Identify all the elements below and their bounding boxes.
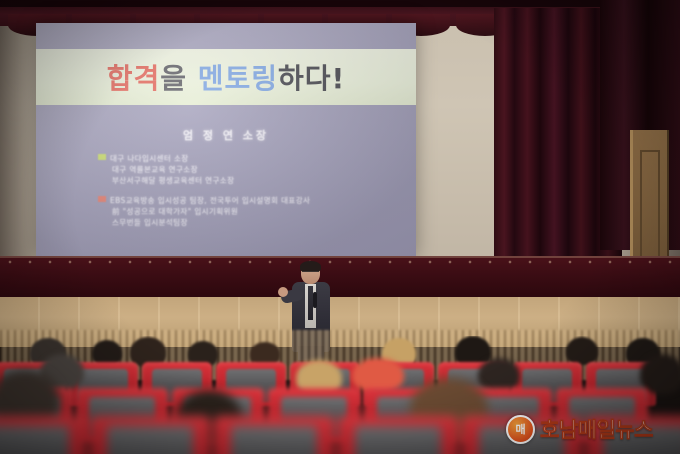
- bullet-marker-icon: [98, 154, 106, 160]
- seat-panel: [355, 426, 441, 454]
- valance-edge: [0, 0, 680, 7]
- bullet-line: 대구 역률본교육 연구소장: [98, 164, 398, 175]
- bullet-line: 스무번들 입시분석팀장: [98, 217, 398, 228]
- auditorium-seat: [214, 416, 334, 454]
- news-watermark: 매 호남매일뉴스: [506, 414, 653, 444]
- slide-speaker-name: 엄 정 연 소장: [36, 127, 416, 143]
- microphone-icon: [313, 292, 317, 308]
- audience-head: [566, 337, 598, 365]
- audience-head: [640, 354, 680, 394]
- presentation-slide: 합격을 멘토링하다! 엄 정 연 소장 대구 나다입시센터 소장 대구 역률본교…: [36, 23, 416, 258]
- title-segment-2: 을: [160, 62, 198, 95]
- slide-bullet-list: 대구 나다입시센터 소장 대구 역률본교육 연구소장 부산서구해달 평생교육센터…: [98, 153, 398, 237]
- bullet-text: 부산서구해달 평생교육센터 연구소장: [112, 176, 234, 185]
- watermark-text: 호남매일뉴스: [540, 414, 653, 444]
- stage-apron: [0, 256, 680, 300]
- bullet-line: 부산서구해달 평생교육센터 연구소장: [98, 175, 398, 186]
- apron-stud-trim: [0, 258, 680, 266]
- honam-news-logo-icon: 매: [506, 415, 535, 444]
- projection-screen: 합격을 멘토링하다! 엄 정 연 소장 대구 나다입시센터 소장 대구 역률본교…: [36, 23, 416, 258]
- auditorium-photo: 합격을 멘토링하다! 엄 정 연 소장 대구 나다입시센터 소장 대구 역률본교…: [0, 0, 680, 454]
- bullet-text: EBS교육방송 입시성공 팀장, 전국투어 입시설명회 대표강사: [110, 196, 310, 205]
- bullet-group: 대구 나다입시센터 소장 대구 역률본교육 연구소장 부산서구해달 평생교육센터…: [98, 153, 398, 186]
- auditorium-seat: [0, 416, 86, 454]
- seat-panel: [107, 426, 193, 454]
- title-segment-1: 합격: [107, 62, 161, 95]
- bullet-marker-icon: [98, 196, 106, 202]
- seat-panel: [231, 426, 317, 454]
- slide-title-band: 합격을 멘토링하다!: [36, 49, 416, 105]
- title-segment-4: 하다!: [278, 62, 345, 95]
- glasses-icon: [302, 271, 319, 276]
- presenter-hand: [278, 287, 288, 297]
- bullet-text: 스무번들 입시분석팀장: [112, 218, 188, 227]
- auditorium-seat: [338, 416, 458, 454]
- title-segment-3: 멘토링: [198, 62, 278, 95]
- bullet-text: 대구 역률본교육 연구소장: [112, 165, 198, 174]
- bullet-group: EBS교육방송 입시성공 팀장, 전국투어 입시설명회 대표강사 前 "성공으로…: [98, 195, 398, 228]
- audience-head: [478, 358, 520, 392]
- slide-title: 합격을 멘토링하다!: [107, 57, 346, 97]
- seat-panel: [0, 426, 69, 454]
- bullet-text: 前 "성공으로 대학가자" 입시기획위원: [112, 207, 238, 216]
- bullet-line: EBS교육방송 입시성공 팀장, 전국투어 입시설명회 대표강사: [98, 195, 398, 206]
- bullet-text: 대구 나다입시센터 소장: [110, 154, 189, 163]
- auditorium-seat: [90, 416, 210, 454]
- audience-head-red-cap: [352, 358, 404, 392]
- bullet-line: 대구 나다입시센터 소장: [98, 153, 398, 164]
- bullet-line: 前 "성공으로 대학가자" 입시기획위원: [98, 206, 398, 217]
